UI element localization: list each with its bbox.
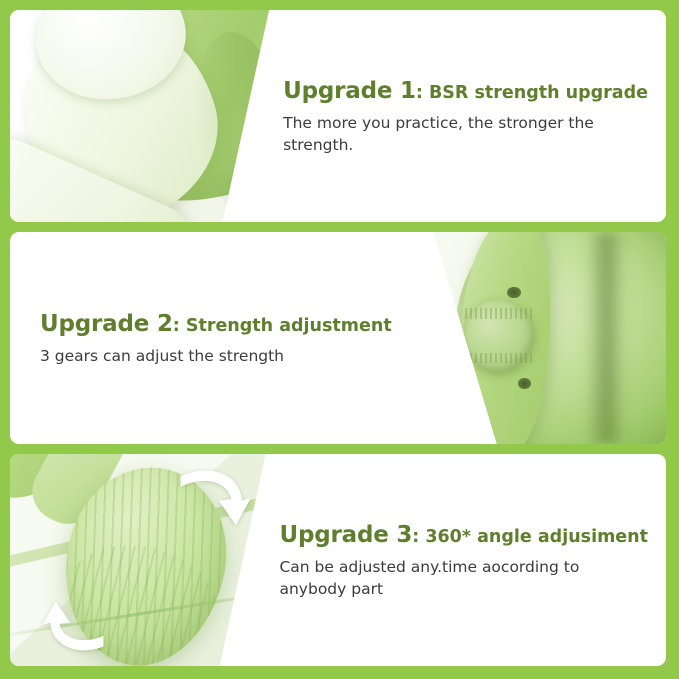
strength-knob-illustration: [402, 232, 666, 444]
feature-headline-sub: Strength adjustment: [186, 316, 392, 336]
product-photo-upgrade-3: [10, 454, 265, 666]
feature-headline-upgrade-1: Upgrade 1: BSR strength upgrade: [283, 76, 648, 105]
feature-headline-sub: 360* angle adjusiment: [425, 527, 648, 547]
feature-body-upgrade-1: The more you practice, the stronger the …: [283, 112, 613, 156]
feature-headline-upgrade-3: Upgrade 3: 360* angle adjusiment: [279, 520, 648, 549]
feature-copy-upgrade-3: Upgrade 3: 360* angle adjusiment Can be …: [265, 454, 666, 666]
feature-headline-upgrade-2: Upgrade 2: Strength adjustment: [40, 309, 392, 338]
feature-headline-main: Upgrade 1: [283, 78, 416, 104]
feature-panel-upgrade-2: Upgrade 2: Strength adjustment 3 gears c…: [10, 232, 666, 444]
feature-panel-upgrade-3: Upgrade 3: 360* angle adjusiment Can be …: [10, 454, 666, 666]
rotating-head-illustration: [10, 454, 265, 666]
rotation-arrow-counterclockwise-icon: [41, 600, 107, 653]
feature-body-upgrade-2: 3 gears can adjust the strength: [40, 345, 380, 367]
feature-headline-sub: BSR strength upgrade: [429, 83, 648, 103]
feature-board: Upgrade 1: BSR strength upgrade The more…: [0, 0, 679, 679]
massage-head-illustration: [10, 10, 269, 222]
product-photo-upgrade-2: [402, 232, 666, 444]
feature-body-upgrade-3: Can be adjusted any.time aocording to an…: [279, 556, 609, 600]
rotation-arrow-clockwise-icon: [176, 467, 253, 528]
feature-panel-upgrade-1: Upgrade 1: BSR strength upgrade The more…: [10, 10, 666, 222]
feature-headline-separator: :: [412, 527, 425, 547]
feature-copy-upgrade-1: Upgrade 1: BSR strength upgrade The more…: [269, 10, 666, 222]
feature-headline-main: Upgrade 2: [40, 311, 173, 337]
feature-headline-separator: :: [173, 316, 186, 336]
adjustment-knob-icon: [465, 300, 534, 372]
feature-copy-upgrade-2: Upgrade 2: Strength adjustment 3 gears c…: [10, 232, 402, 444]
feature-headline-separator: :: [416, 83, 429, 103]
product-photo-upgrade-1: [10, 10, 269, 222]
feature-headline-main: Upgrade 3: [279, 522, 412, 548]
